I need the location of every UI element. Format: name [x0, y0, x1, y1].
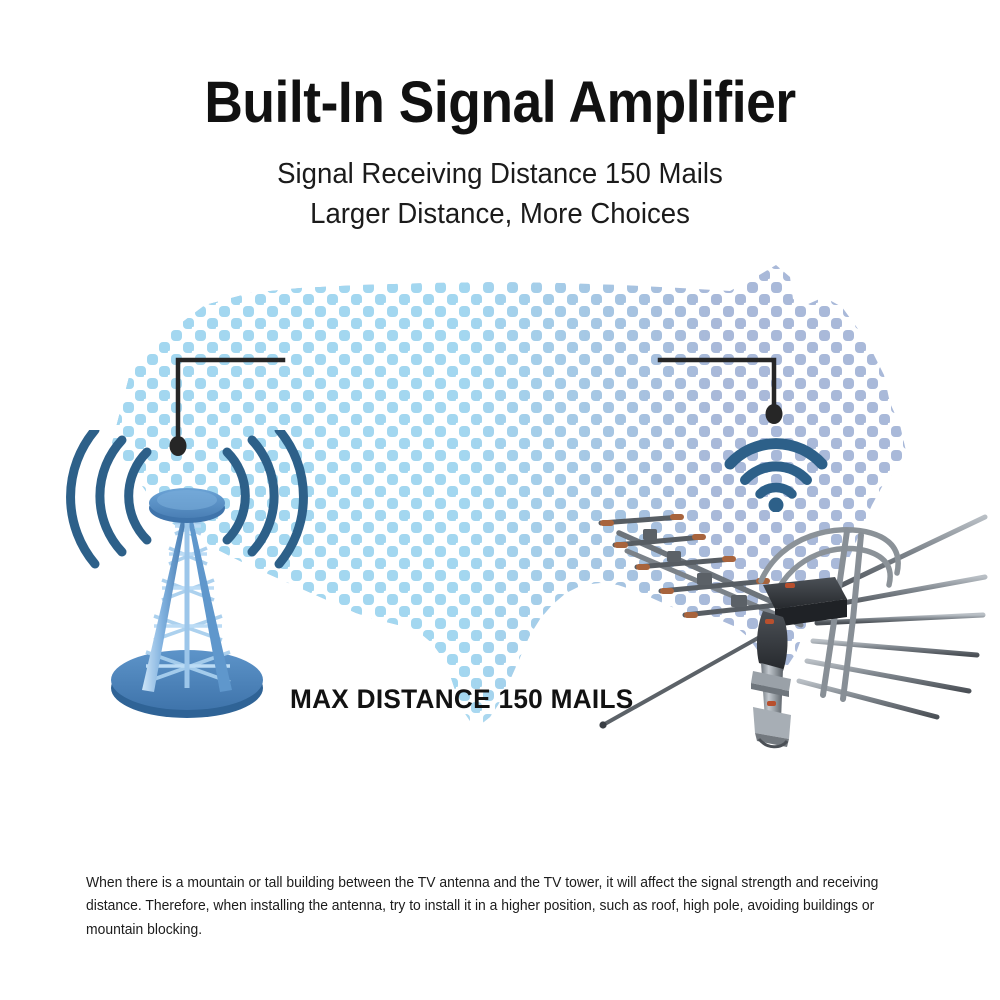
antenna-mast	[751, 663, 791, 747]
antenna-rotor-housing	[757, 611, 788, 671]
header: Built-In Signal Amplifier Signal Receivi…	[0, 0, 1000, 234]
footer-paragraph: When there is a mountain or tall buildin…	[86, 872, 914, 942]
broadcast-tower-graphic	[62, 430, 312, 730]
tower-legs	[142, 508, 232, 692]
wifi-arc-outer	[730, 444, 822, 464]
subtitle-line-1: Signal Receiving Distance 150 Mails	[25, 154, 975, 194]
infographic-page: Built-In Signal Amplifier Signal Receivi…	[0, 0, 1000, 1000]
footer: When there is a mountain or tall buildin…	[86, 872, 948, 942]
subtitle-block: Signal Receiving Distance 150 Mails Larg…	[0, 132, 1000, 234]
subtitle-line-2: Larger Distance, More Choices	[25, 194, 975, 234]
signal-arcs-left	[71, 430, 147, 564]
antenna-product-graphic	[585, 495, 995, 750]
antenna-director-elements-left	[601, 517, 801, 625]
outdoor-yagi-tv-antenna	[585, 495, 995, 750]
page-title: Built-In Signal Amplifier	[40, 0, 960, 132]
broadcast-tower	[62, 430, 312, 730]
tower-top-dish	[149, 488, 225, 523]
wifi-arc-middle	[745, 466, 807, 480]
signal-arcs-right	[227, 430, 303, 564]
wifi-arc-inner	[760, 488, 792, 494]
